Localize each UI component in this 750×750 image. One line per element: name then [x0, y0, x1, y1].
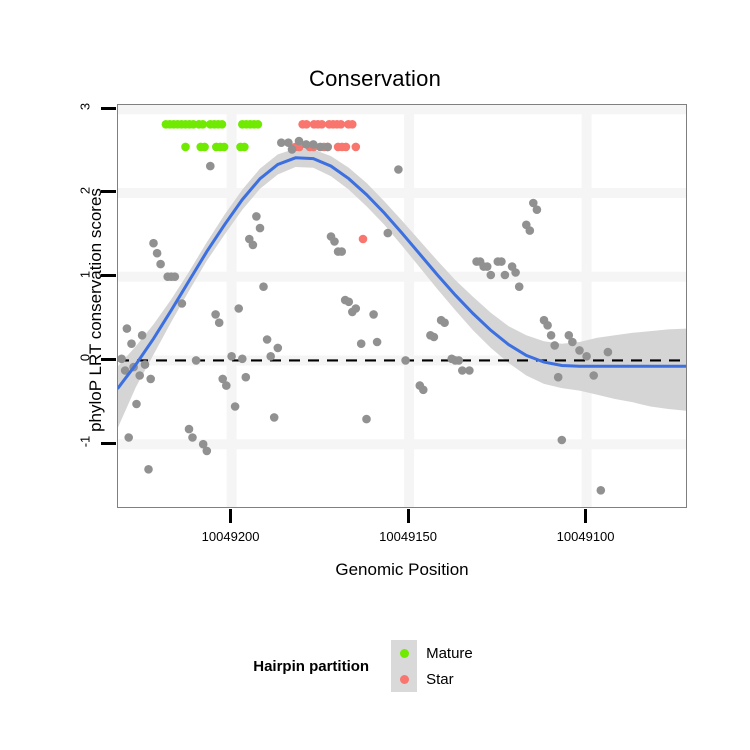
data-point	[153, 249, 162, 258]
data-point	[127, 339, 136, 348]
data-point	[533, 205, 542, 214]
data-point	[124, 433, 133, 442]
y-tick-label: 3	[78, 96, 93, 118]
data-point	[575, 346, 584, 355]
data-point	[465, 366, 474, 375]
y-tick-label: 0	[78, 347, 93, 369]
data-point	[597, 486, 606, 495]
data-point	[373, 338, 382, 347]
data-point	[256, 224, 265, 233]
data-point	[238, 355, 247, 364]
data-point	[362, 415, 371, 424]
y-tick-mark	[101, 442, 116, 445]
x-tick-mark	[407, 509, 410, 523]
data-point	[200, 143, 209, 152]
data-point	[440, 318, 449, 327]
y-tick-mark	[101, 358, 116, 361]
data-point	[357, 339, 366, 348]
data-point	[302, 120, 311, 129]
data-point	[144, 465, 153, 474]
data-point	[547, 331, 556, 340]
data-point	[240, 143, 249, 152]
data-point	[123, 324, 132, 333]
data-point	[218, 120, 227, 129]
plot-panel	[117, 104, 687, 508]
legend-dot-icon	[400, 675, 409, 684]
data-point	[323, 143, 332, 152]
data-point	[342, 143, 351, 152]
legend-dot-icon	[400, 649, 409, 658]
data-point	[259, 282, 268, 291]
data-point	[348, 120, 357, 129]
x-tick-label: 10049150	[348, 529, 468, 544]
data-point	[568, 338, 577, 347]
data-point	[394, 165, 403, 174]
data-point	[141, 360, 150, 369]
data-point	[604, 348, 613, 357]
data-point	[337, 120, 346, 129]
data-point	[558, 436, 567, 445]
data-point	[543, 321, 552, 330]
data-point	[203, 447, 212, 456]
legend-item-label: Mature	[426, 645, 473, 662]
data-point	[511, 268, 520, 277]
data-point	[234, 304, 243, 313]
data-point	[288, 145, 297, 154]
data-point	[211, 310, 220, 319]
data-point	[185, 425, 194, 434]
data-point	[254, 120, 263, 129]
legend-key-swatch	[391, 640, 417, 666]
chart-root: Conservation phyloP LRT conservation sco…	[0, 0, 750, 750]
data-point	[554, 373, 563, 382]
y-tick-mark	[101, 190, 116, 193]
legend: Hairpin partition MatureStar	[0, 640, 750, 692]
x-tick-mark	[229, 509, 232, 523]
data-point	[146, 375, 155, 384]
data-point	[369, 310, 378, 319]
data-point	[222, 381, 231, 390]
y-tick-label: 1	[78, 263, 93, 285]
data-point	[206, 162, 215, 171]
data-point	[149, 239, 158, 248]
data-point	[501, 271, 510, 280]
data-point	[345, 298, 354, 307]
legend-items: MatureStar	[391, 640, 497, 692]
x-axis-label: Genomic Position	[117, 560, 687, 580]
data-point	[401, 356, 410, 365]
legend-key-swatch	[391, 666, 417, 692]
data-point	[263, 335, 272, 344]
data-point	[582, 352, 591, 361]
data-point	[252, 212, 261, 221]
data-point	[132, 400, 141, 409]
chart-title: Conservation	[0, 66, 750, 92]
data-point	[526, 226, 535, 235]
data-point	[274, 344, 283, 353]
data-point	[589, 371, 598, 380]
data-point	[515, 282, 524, 291]
data-point	[249, 241, 258, 250]
x-tick-mark	[584, 509, 587, 523]
data-point	[266, 352, 275, 361]
data-point	[192, 356, 201, 365]
legend-item-mature[interactable]: Mature	[391, 640, 473, 666]
y-tick-mark	[101, 274, 116, 277]
y-tick-mark	[101, 107, 116, 110]
x-tick-label: 10049100	[526, 529, 646, 544]
data-point	[156, 260, 165, 269]
data-point	[188, 433, 197, 442]
legend-item-star[interactable]: Star	[391, 666, 473, 692]
legend-item-label: Star	[426, 671, 454, 688]
data-point	[231, 402, 240, 411]
series-mature	[162, 120, 263, 151]
data-point	[359, 235, 368, 244]
data-point	[550, 341, 559, 350]
data-point	[181, 143, 190, 152]
data-point	[483, 262, 492, 271]
plot-canvas	[118, 105, 686, 507]
data-point	[419, 386, 428, 395]
y-tick-label: 2	[78, 179, 93, 201]
data-point	[352, 304, 361, 313]
data-point	[227, 352, 236, 361]
y-tick-label: -1	[78, 431, 93, 453]
data-point	[352, 143, 361, 152]
data-point	[330, 237, 339, 246]
data-point	[270, 413, 279, 422]
data-point	[215, 318, 224, 327]
data-point	[497, 257, 506, 266]
data-point	[135, 371, 144, 380]
data-point	[199, 120, 208, 129]
data-point	[171, 272, 180, 281]
data-point	[384, 229, 393, 238]
data-point	[138, 331, 147, 340]
x-tick-label: 10049200	[171, 529, 291, 544]
data-point	[430, 333, 439, 342]
data-point	[220, 143, 229, 152]
data-point	[242, 373, 251, 382]
data-point	[337, 247, 346, 256]
data-point	[318, 120, 327, 129]
data-point	[487, 271, 496, 280]
legend-title: Hairpin partition	[253, 658, 369, 675]
data-point	[455, 356, 464, 365]
